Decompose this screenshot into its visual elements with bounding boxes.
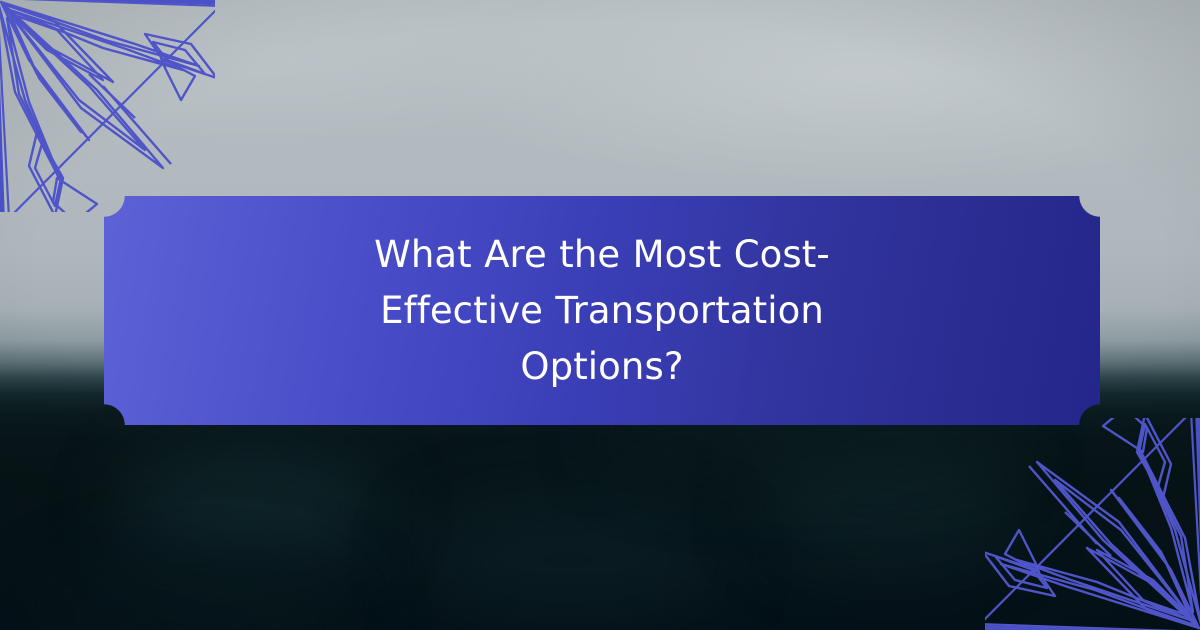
- title-card: What Are the Most Cost-Effective Transpo…: [104, 196, 1100, 425]
- title-card-content: What Are the Most Cost-Effective Transpo…: [104, 196, 1100, 425]
- page-title: What Are the Most Cost-Effective Transpo…: [302, 227, 902, 395]
- title-card-graphic: What Are the Most Cost-Effective Transpo…: [0, 0, 1200, 630]
